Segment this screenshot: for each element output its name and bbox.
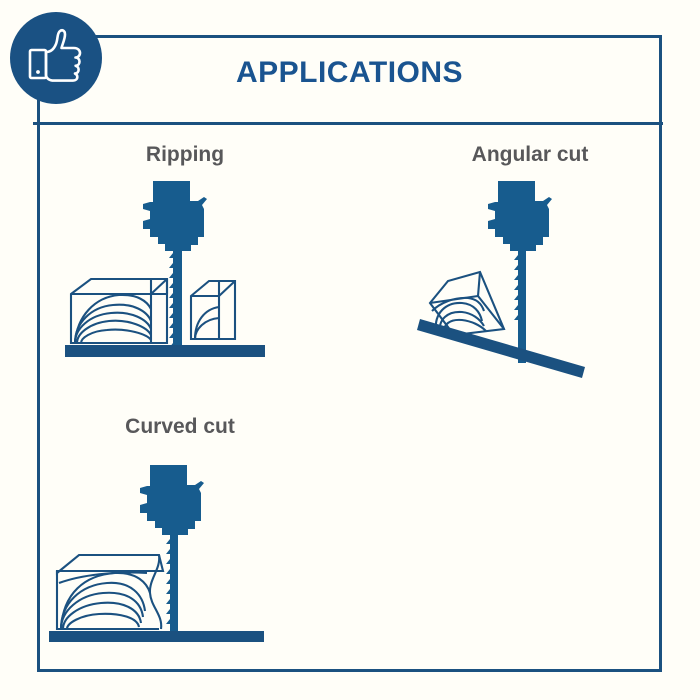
saw-blade xyxy=(169,251,182,356)
wood-block-right xyxy=(191,281,235,339)
panel-curved: Curved cut xyxy=(35,415,325,660)
jigsaw-tool xyxy=(488,181,552,251)
title-divider xyxy=(33,122,663,125)
saw-blade xyxy=(166,535,178,631)
wood-block-left xyxy=(71,279,167,343)
workbench-base xyxy=(49,631,264,642)
jigsaw-tool xyxy=(143,181,207,251)
page-title: APPLICATIONS xyxy=(37,56,662,90)
wood-block-curved xyxy=(57,555,163,629)
thumbs-up-icon xyxy=(10,12,102,104)
panel-angular: Angular cut xyxy=(400,143,660,388)
jigsaw-curved-cut-illustration xyxy=(35,443,325,658)
workbench-base xyxy=(65,345,265,357)
saw-blade xyxy=(514,251,526,363)
thumbs-up-badge xyxy=(10,12,102,104)
panel-ripping: Ripping xyxy=(55,143,315,388)
panel-label-curved: Curved cut xyxy=(35,415,325,439)
applications-infographic: APPLICATIONS Ripping xyxy=(0,0,700,700)
jigsaw-angular-cut-illustration xyxy=(400,171,660,391)
jigsaw-tool xyxy=(140,465,204,535)
panel-label-angular: Angular cut xyxy=(400,143,660,167)
jigsaw-ripping-illustration xyxy=(55,171,315,381)
panel-label-ripping: Ripping xyxy=(55,143,315,167)
tilted-workbench-base xyxy=(417,319,585,378)
